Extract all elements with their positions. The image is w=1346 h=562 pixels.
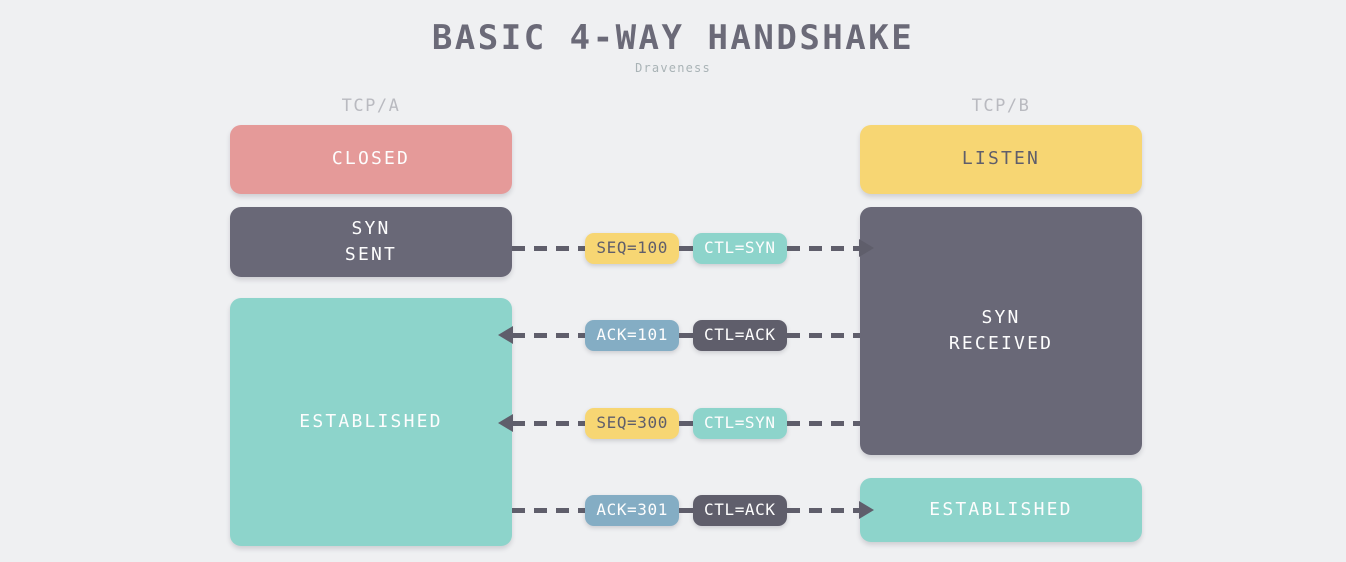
pill-ctl: CTL=ACK xyxy=(693,495,787,526)
page-subtitle: Draveness xyxy=(0,61,1346,75)
pill-ctl: CTL=SYN xyxy=(693,233,787,264)
state-label-line2: SENT xyxy=(345,242,397,268)
state-label: ESTABLISHED xyxy=(929,497,1072,523)
pill-seq: ACK=301 xyxy=(585,495,679,526)
dashed-line-segment xyxy=(512,508,585,513)
dashed-line-connector xyxy=(679,246,693,251)
dashed-line-connector xyxy=(679,333,693,338)
message-row-3: SEQ=300 CTL=SYN xyxy=(512,403,860,443)
state-label-line2: RECEIVED xyxy=(949,331,1053,357)
handshake-diagram: BASIC 4-WAY HANDSHAKE Draveness TCP/A TC… xyxy=(0,0,1346,562)
state-box-established-b: ESTABLISHED xyxy=(860,478,1142,542)
dashed-line-connector xyxy=(679,508,693,513)
state-label: CLOSED xyxy=(332,146,410,172)
dashed-line-segment xyxy=(787,421,860,426)
state-box-closed: CLOSED xyxy=(230,125,512,194)
state-box-listen: LISTEN xyxy=(860,125,1142,194)
pill-seq: ACK=101 xyxy=(585,320,679,351)
page-title: BASIC 4-WAY HANDSHAKE xyxy=(0,18,1346,58)
dashed-line-segment xyxy=(512,421,585,426)
message-row-2: ACK=101 CTL=ACK xyxy=(512,315,860,355)
dashed-line-segment xyxy=(787,508,860,513)
pill-seq: SEQ=100 xyxy=(585,233,679,264)
message-row-1: SEQ=100 CTL=SYN xyxy=(512,228,860,268)
dashed-line-segment xyxy=(512,333,585,338)
state-label-line1: SYN xyxy=(351,216,390,242)
dashed-line-connector xyxy=(679,421,693,426)
column-header-tcp-b: TCP/B xyxy=(860,96,1142,116)
dashed-line-segment xyxy=(787,333,860,338)
column-header-tcp-a: TCP/A xyxy=(230,96,512,116)
dashed-line-segment xyxy=(512,246,585,251)
pill-ctl: CTL=SYN xyxy=(693,408,787,439)
dashed-line-segment xyxy=(787,246,860,251)
state-label: LISTEN xyxy=(962,146,1040,172)
pill-seq: SEQ=300 xyxy=(585,408,679,439)
state-box-syn-sent: SYN SENT xyxy=(230,207,512,277)
state-box-established-a: ESTABLISHED xyxy=(230,298,512,546)
state-label: ESTABLISHED xyxy=(299,409,442,435)
state-label-line1: SYN xyxy=(981,305,1020,331)
state-box-syn-received: SYN RECEIVED xyxy=(860,207,1142,455)
message-row-4: ACK=301 CTL=ACK xyxy=(512,490,860,530)
pill-ctl: CTL=ACK xyxy=(693,320,787,351)
